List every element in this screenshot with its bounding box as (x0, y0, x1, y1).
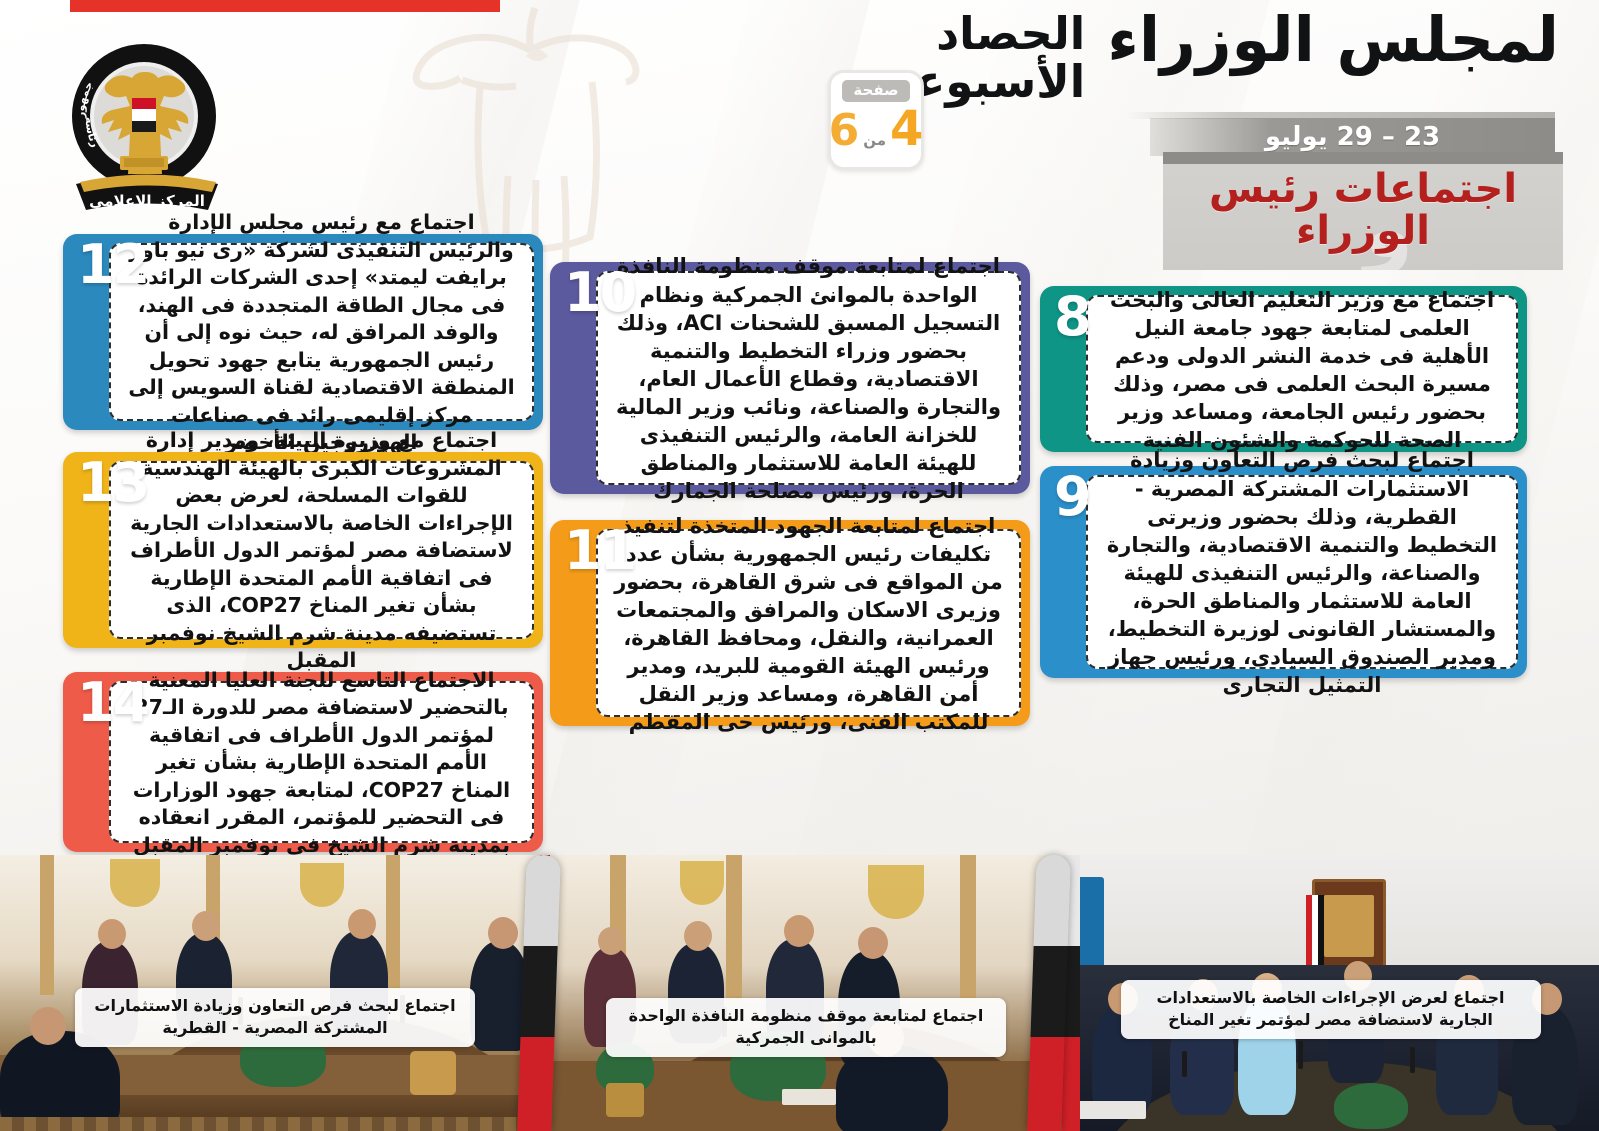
card-number-12: 12 (77, 238, 148, 292)
meeting-photo-3: اجتماع لبحث فرص التعاون وزيادة الاستثمار… (0, 855, 550, 1131)
section-title-line-2: الوزراء (1163, 210, 1563, 252)
infographic-page: ﮔﻮﺭ و جمهورية مصر العربية رئاسة مجلس الو… (0, 0, 1599, 1131)
card-number-10: 10 (564, 266, 635, 320)
meeting-card-11[interactable]: 11 اجتماع لمتابعة الجهود المتخذة لتنفيذ … (550, 520, 1030, 726)
card-number-11: 11 (564, 524, 635, 578)
section-banner: و اجتماعات رئيس الوزراء (1163, 152, 1563, 270)
card-number-8: 8 (1054, 290, 1090, 344)
meeting-card-13[interactable]: 13 اجتماع مع وزيرة البيئة، ومدير إدارة ا… (63, 452, 543, 648)
photo-caption-1: اجتماع لعرض الإجراءات الخاصة بالاستعدادا… (1121, 980, 1541, 1039)
top-bar-gap (0, 0, 70, 12)
section-title-line-1: اجتماعات رئيس (1163, 168, 1563, 210)
meeting-card-10[interactable]: 10 اجتماع لمتابعة موقف منظومة النافذة ال… (550, 262, 1030, 494)
page-total-number: 6 (829, 109, 860, 153)
card-number-13: 13 (77, 456, 148, 510)
meeting-card-9[interactable]: 9 اجتماع لبحث فرص التعاون وزيادة الاستثم… (1040, 466, 1527, 678)
card-text-8: اجتماع مع وزير التعليم العالى والبحث الع… (1102, 286, 1502, 455)
top-red-bar (70, 0, 500, 12)
card-body-12: اجتماع مع رئيس مجلس الإدارة والرئيس التن… (109, 243, 534, 421)
card-body-8: اجتماع مع وزير التعليم العالى والبحث الع… (1086, 295, 1518, 443)
meeting-room-illustration-2 (550, 855, 1062, 1131)
cabinet-media-center-logo: جمهورية مصر العربية رئاسة مجلس الوزراء ا… (58, 36, 236, 216)
photo-caption-2: اجتماع لمتابعة موقف منظومة النافذة الواح… (606, 998, 1006, 1057)
title-line-1: الحصاد (936, 10, 1085, 58)
card-text-9: اجتماع لبحث فرص التعاون وزيادة الاستثمار… (1102, 446, 1502, 699)
photo-strip: اجتماع لعرض الإجراءات الخاصة بالاستعدادا… (0, 855, 1599, 1131)
header-title-block: لمجلس الوزراء الحصاد الأسبوعى 23 – 29 يو… (999, 8, 1559, 105)
card-body-10: اجتماع لمتابعة موقف منظومة النافذة الواح… (596, 271, 1021, 485)
card-body-13: اجتماع مع وزيرة البيئة، ومدير إدارة المش… (109, 461, 534, 639)
card-number-9: 9 (1054, 470, 1090, 524)
card-body-14: الاجتماع التاسع للجنة العليا المعنية بال… (109, 681, 534, 843)
card-text-13: اجتماع مع وزيرة البيئة، ومدير إدارة المش… (125, 427, 518, 674)
card-text-11: اجتماع لمتابعة الجهود المتخذة لتنفيذ تكل… (612, 512, 1005, 737)
card-number-14: 14 (77, 676, 148, 730)
card-body-11: اجتماع لمتابعة الجهود المتخذة لتنفيذ تكل… (596, 529, 1021, 717)
page-title: لمجلس الوزراء (1107, 8, 1559, 71)
meeting-card-12[interactable]: 12 اجتماع مع رئيس مجلس الإدارة والرئيس ا… (63, 234, 543, 430)
page-current-number: 4 (890, 105, 923, 153)
meeting-photo-2: اجتماع لمتابعة موقف منظومة النافذة الواح… (550, 855, 1062, 1131)
page-badge-label: صفحة (842, 80, 909, 102)
card-text-12: اجتماع مع رئيس مجلس الإدارة والرئيس التن… (125, 209, 518, 456)
page-badge-numbers: 4 من 6 (829, 105, 924, 153)
date-range-label: 23 – 29 يوليو (1265, 122, 1440, 152)
page-of-label: من (863, 131, 886, 149)
card-text-10: اجتماع لمتابعة موقف منظومة النافذة الواح… (612, 252, 1005, 505)
meeting-card-14[interactable]: 14 الاجتماع التاسع للجنة العليا المعنية … (63, 672, 543, 852)
date-bar: 23 – 29 يوليو (1150, 118, 1555, 156)
svg-text:المركز الإعلامى: المركز الإعلامى (89, 192, 205, 210)
card-body-9: اجتماع لبحث فرص التعاون وزيادة الاستثمار… (1086, 475, 1518, 669)
photo-caption-3: اجتماع لبحث فرص التعاون وزيادة الاستثمار… (75, 988, 475, 1047)
page-number-badge: صفحة 4 من 6 (828, 70, 924, 170)
meeting-photo-1: اجتماع لعرض الإجراءات الخاصة بالاستعدادا… (1062, 855, 1599, 1131)
card-text-14: الاجتماع التاسع للجنة العليا المعنية بال… (125, 667, 518, 859)
meeting-card-8[interactable]: 8 اجتماع مع وزير التعليم العالى والبحث ا… (1040, 286, 1527, 452)
